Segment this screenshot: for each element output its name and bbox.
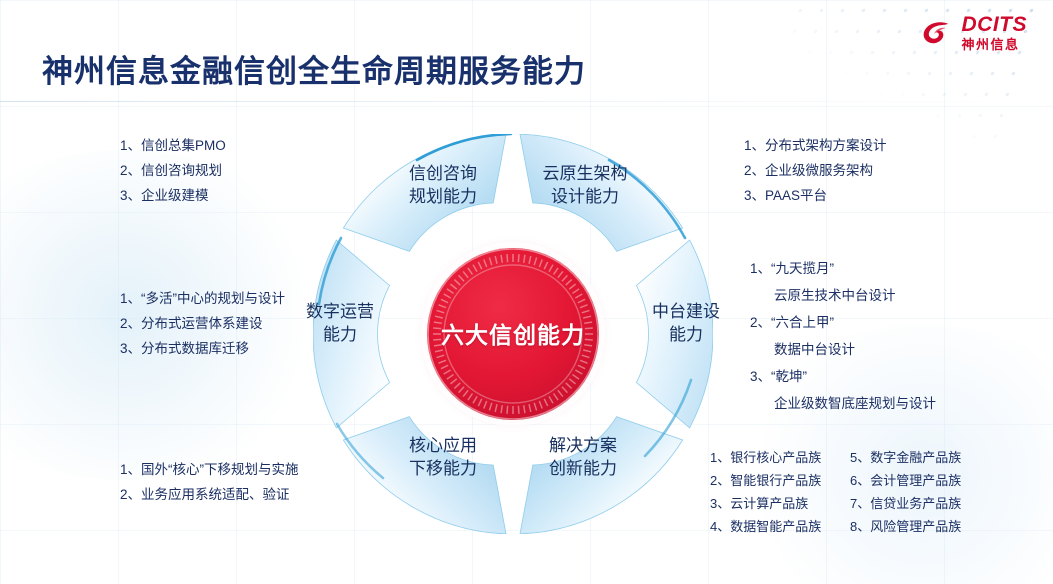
header-divider-line: [0, 101, 1053, 102]
list-index: 3、: [120, 336, 141, 361]
list-index: 5、: [850, 450, 870, 465]
list-text: 会计管理产品族: [870, 473, 961, 488]
capability-wheel: 信创咨询 规划能力 云原生架构 设计能力 中台建设 能力 解决方案 创新能力 核…: [313, 134, 713, 534]
list-item: 2、分布式运营体系建设: [120, 311, 285, 336]
list-text: 分布式架构方案设计: [765, 138, 887, 153]
notes-mid-right: 1、“九天揽月” 云原生技术中台设计 2、“六合上甲” 数据中台设计 3、“乾坤…: [750, 255, 936, 417]
list-item: 6、会计管理产品族: [850, 469, 980, 492]
list-item: 8、风险管理产品族: [850, 515, 980, 538]
notes-mid-left: 1、“多活”中心的规划与设计 2、分布式运营体系建设 3、分布式数据库迁移: [120, 286, 285, 361]
list-text: 数据智能产品族: [730, 519, 821, 534]
list-text: “六合上甲”: [771, 315, 834, 330]
dcits-swirl-logo-icon: [920, 16, 954, 50]
list-text: “乾坤”: [771, 369, 807, 384]
list-index: 4、: [710, 519, 730, 534]
brand-name-en: DCITS: [962, 14, 1028, 35]
wheel-segment-digital-ops: [313, 240, 390, 428]
brand-name-cn: 神州信息: [962, 38, 1028, 51]
list-item: 1、“多活”中心的规划与设计: [120, 286, 285, 311]
list-item: 2、信创咨询规划: [120, 158, 226, 183]
list-index: 7、: [850, 496, 870, 511]
list-index: 2、: [120, 482, 141, 507]
list-index: 1、: [744, 133, 765, 158]
list-item: 3、企业级建模: [120, 183, 226, 208]
list-text: “九天揽月”: [771, 261, 834, 276]
notes-top-left: 1、信创总集PMO 2、信创咨询规划 3、企业级建模: [120, 133, 226, 208]
list-index: 2、: [750, 309, 771, 336]
list-index: 3、: [744, 183, 765, 208]
list-index: 3、: [710, 496, 730, 511]
list-text: 国外“核心”下移规划与实施: [141, 462, 299, 477]
wheel-segment-midplatform: [636, 240, 713, 428]
list-index: 8、: [850, 519, 870, 534]
page-title: 神州信息金融信创全生命周期服务能力: [42, 46, 586, 91]
list-item: 3、PAAS平台: [744, 183, 887, 208]
list-index: 1、: [710, 450, 730, 465]
list-index: 1、: [120, 286, 141, 311]
list-item: 1、分布式架构方案设计: [744, 133, 887, 158]
list-item: 2、智能银行产品族: [710, 469, 840, 492]
list-text: 银行核心产品族: [730, 450, 821, 465]
list-subtext: 数据中台设计: [750, 336, 936, 363]
list-text: 信创咨询规划: [141, 163, 222, 178]
list-item: 5、数字金融产品族: [850, 446, 980, 469]
list-item: 4、数据智能产品族: [710, 515, 840, 538]
list-index: 1、: [120, 457, 141, 482]
list-item: 1、国外“核心”下移规划与实施: [120, 457, 299, 482]
notes-top-right: 1、分布式架构方案设计 2、企业级微服务架构 3、PAAS平台: [744, 133, 887, 208]
list-item: 1、“九天揽月”: [750, 255, 936, 282]
list-index: 2、: [120, 158, 141, 183]
list-text: 智能银行产品族: [730, 473, 821, 488]
brand-logo: DCITS 神州信息: [920, 14, 1028, 51]
list-item: 2、“六合上甲”: [750, 309, 936, 336]
list-item: 7、信贷业务产品族: [850, 492, 980, 515]
list-item: 3、云计算产品族: [710, 492, 840, 515]
list-index: 3、: [120, 183, 141, 208]
list-index: 1、: [120, 133, 141, 158]
list-text: 云计算产品族: [730, 496, 808, 511]
list-text: 企业级微服务架构: [765, 163, 873, 178]
brand-wordmark: DCITS 神州信息: [962, 14, 1028, 51]
list-text: 业务应用系统适配、验证: [141, 487, 290, 502]
list-text: 信贷业务产品族: [870, 496, 961, 511]
list-index: 1、: [750, 255, 771, 282]
list-text: 分布式数据库迁移: [141, 341, 249, 356]
list-subtext: 云原生技术中台设计: [750, 282, 936, 309]
list-index: 6、: [850, 473, 870, 488]
list-item: 1、信创总集PMO: [120, 133, 226, 158]
list-subtext: 企业级数智底座规划与设计: [750, 390, 936, 417]
list-text: “多活”中心的规划与设计: [141, 291, 285, 306]
list-item: 3、分布式数据库迁移: [120, 336, 285, 361]
list-item: 1、银行核心产品族: [710, 446, 840, 469]
list-index: 2、: [744, 158, 765, 183]
list-text: 数字金融产品族: [870, 450, 961, 465]
list-text: 企业级建模: [141, 188, 209, 203]
list-index: 3、: [750, 363, 771, 390]
list-item: 2、业务应用系统适配、验证: [120, 482, 299, 507]
list-index: 2、: [710, 473, 730, 488]
list-text: 信创总集PMO: [141, 138, 226, 153]
notes-bottom-left: 1、国外“核心”下移规划与实施 2、业务应用系统适配、验证: [120, 457, 299, 507]
list-text: 分布式运营体系建设: [141, 316, 263, 331]
list-text: 风险管理产品族: [870, 519, 961, 534]
list-item: 2、企业级微服务架构: [744, 158, 887, 183]
list-item: 3、“乾坤”: [750, 363, 936, 390]
list-index: 2、: [120, 311, 141, 336]
list-text: PAAS平台: [765, 188, 827, 203]
notes-bottom-right: 1、银行核心产品族 5、数字金融产品族 2、智能银行产品族 6、会计管理产品族 …: [710, 446, 980, 538]
